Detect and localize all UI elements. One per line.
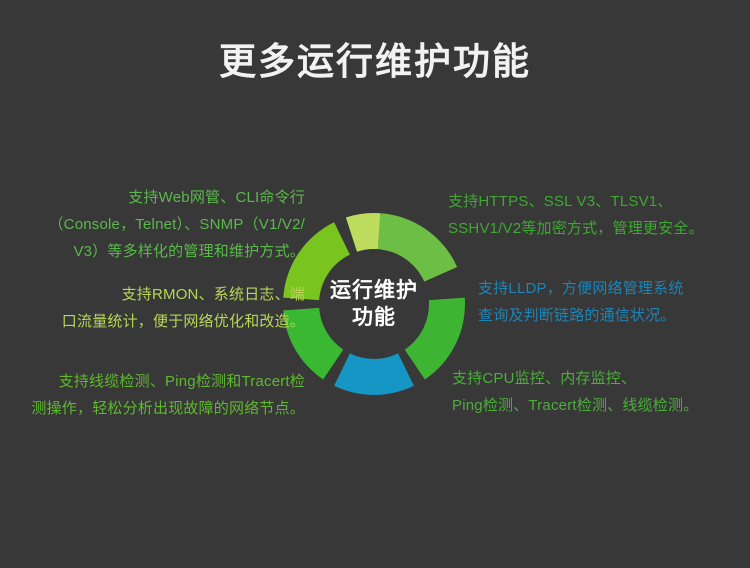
callout-web-line-3: V3）等多样化的管理和维护方式。	[10, 238, 305, 265]
callout-https-line-1: 支持HTTPS、SSL V3、TLSV1、	[448, 188, 744, 215]
segment-top-left[interactable]	[378, 213, 457, 281]
callout-lldp-topology: 支持LLDP，方便网络管理系统 查询及判断链路的通信状况。	[478, 275, 744, 329]
callout-web-management: 支持Web网管、CLI命令行 （Console，Telnet）、SNMP（V1/…	[10, 184, 305, 265]
donut-chart-svg	[281, 211, 467, 397]
callout-https-security: 支持HTTPS、SSL V3、TLSV1、 SSHV1/V2等加密方式，管理更安…	[448, 188, 744, 242]
callout-cpu-line-2: Ping检测、Tracert检测、线缆检测。	[452, 392, 744, 419]
callout-rmon-line-2: 口流量统计，便于网络优化和改造。	[30, 308, 305, 335]
page-title: 更多运行维护功能	[0, 38, 750, 86]
callout-https-line-2: SSHV1/V2等加密方式，管理更安全。	[448, 215, 744, 242]
donut-diagram: 运行维护 功能	[281, 211, 467, 397]
callout-lldp-line-2: 查询及判断链路的通信状况。	[478, 302, 744, 329]
callout-cable-diagnostics: 支持线缆检测、Ping检测和Tracert检 测操作，轻松分析出现故障的网络节点…	[8, 368, 305, 422]
slide-canvas: 更多运行维护功能 运行维护 功能 支持Web网管、CLI命令行 （Console…	[0, 0, 750, 568]
segment-left[interactable]	[346, 213, 380, 252]
callout-cable-line-2: 测操作，轻松分析出现故障的网络节点。	[8, 395, 305, 422]
callout-web-line-2: （Console，Telnet）、SNMP（V1/V2/	[10, 211, 305, 238]
callout-cable-line-1: 支持线缆检测、Ping检测和Tracert检	[8, 368, 305, 395]
segment-right[interactable]	[334, 353, 414, 395]
callout-rmon-line-1: 支持RMON、系统日志、端	[30, 281, 305, 308]
callout-lldp-line-1: 支持LLDP，方便网络管理系统	[478, 275, 744, 302]
callout-cpu-line-1: 支持CPU监控、内存监控、	[452, 365, 744, 392]
callout-cpu-monitoring: 支持CPU监控、内存监控、 Ping检测、Tracert检测、线缆检测。	[452, 365, 744, 419]
callout-web-line-1: 支持Web网管、CLI命令行	[10, 184, 305, 211]
callout-rmon-logging: 支持RMON、系统日志、端 口流量统计，便于网络优化和改造。	[30, 281, 305, 335]
